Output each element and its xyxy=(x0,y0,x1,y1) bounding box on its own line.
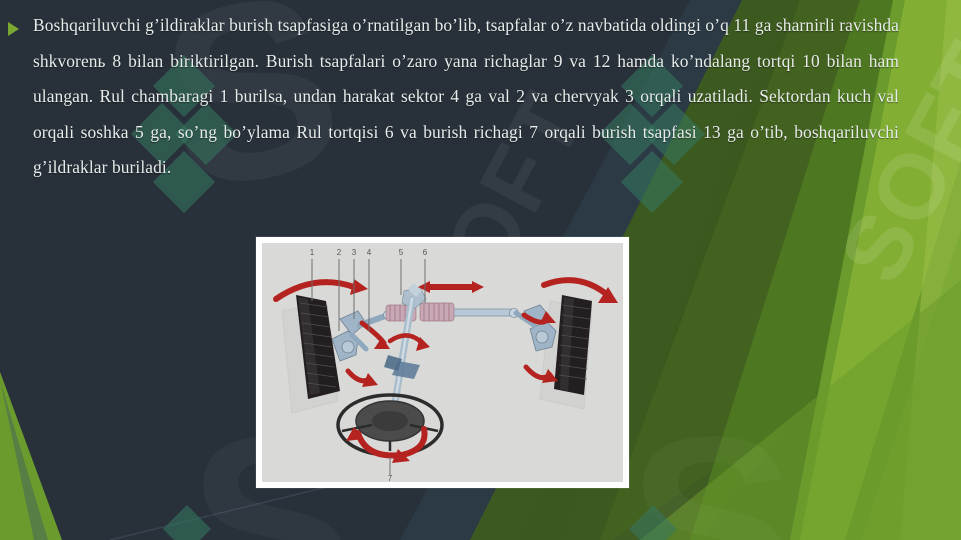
svg-text:2: 2 xyxy=(337,248,342,257)
svg-text:3: 3 xyxy=(352,248,357,257)
presentation-slide: S S S SOFT SOFT Boshqariluv xyxy=(0,0,961,540)
figure-frame[interactable]: 1 2 3 4 5 6 7 xyxy=(256,237,629,488)
svg-text:5: 5 xyxy=(399,248,404,257)
steering-linkage-diagram: 1 2 3 4 5 6 7 xyxy=(262,243,623,482)
green-triangle-bullet-icon xyxy=(8,22,19,36)
svg-text:7: 7 xyxy=(388,474,393,482)
body-paragraph: Boshqariluvchi g’ildiraklar burish tsapf… xyxy=(33,8,899,186)
svg-text:6: 6 xyxy=(423,248,428,257)
svg-text:4: 4 xyxy=(367,248,372,257)
steering-linkage-illustration: 1 2 3 4 5 6 7 xyxy=(262,243,623,482)
svg-text:1: 1 xyxy=(310,248,315,257)
